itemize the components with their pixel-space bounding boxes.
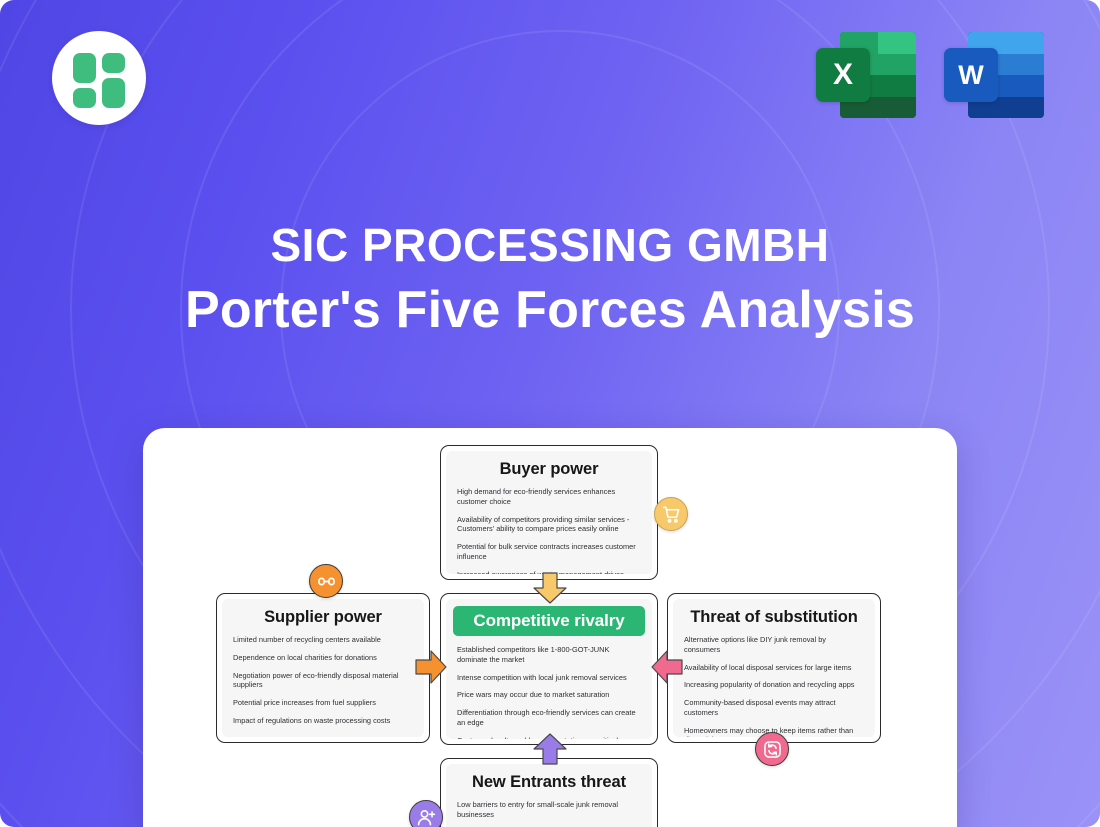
list-item: Alternative options like DIY junk remova…: [684, 635, 864, 655]
force-list-buyer: High demand for eco-friendly services en…: [457, 487, 641, 574]
force-title-buyer: Buyer power: [457, 460, 641, 479]
excel-icon-letter: X: [816, 48, 870, 102]
list-item: Potential price increases from fuel supp…: [233, 698, 413, 708]
export-icons: X W: [816, 32, 1044, 118]
arrow-up-icon: [532, 733, 568, 765]
list-item: Increasing popularity of donation and re…: [684, 680, 864, 690]
force-title-threat-of-substitution: Threat of substitution: [684, 608, 864, 627]
list-item: Established competitors like 1-800-GOT-J…: [457, 645, 641, 665]
force-box-competitive-rivalry[interactable]: Competitive rivalry Established competit…: [440, 593, 658, 745]
force-title-competitive-rivalry: Competitive rivalry: [453, 606, 645, 636]
word-icon[interactable]: W: [944, 32, 1044, 118]
force-list-supplier: Limited number of recycling centers avai…: [233, 635, 413, 726]
arrow-down-icon: [532, 572, 568, 604]
list-item: Differentiation through eco-friendly ser…: [457, 708, 641, 728]
force-list-competitive-rivalry: Established competitors like 1-800-GOT-J…: [457, 645, 641, 739]
grid-logo-icon: [73, 53, 125, 103]
force-box-new-entrants-threat[interactable]: New Entrants threat Low barriers to entr…: [440, 758, 658, 827]
refresh-sync-icon[interactable]: [755, 732, 789, 766]
excel-icon[interactable]: X: [816, 32, 916, 118]
company-name: SIC PROCESSING GMBH: [0, 218, 1100, 272]
force-list-new-entrants-threat: Low barriers to entry for small-scale ju…: [457, 800, 641, 827]
list-item: Availability of local disposal services …: [684, 663, 864, 673]
force-title-supplier: Supplier power: [233, 608, 413, 627]
porters-five-forces-diagram: Buyer power High demand for eco-friendly…: [143, 428, 957, 827]
list-item: Negotiation power of eco-friendly dispos…: [233, 671, 413, 691]
list-item: Price wars may occur due to market satur…: [457, 690, 641, 700]
link-chain-icon[interactable]: [309, 564, 343, 598]
list-item: Dependence on local charities for donati…: [233, 653, 413, 663]
analysis-subtitle: Porter's Five Forces Analysis: [0, 278, 1100, 343]
list-item: Community-based disposal events may attr…: [684, 698, 864, 718]
list-item: Low barriers to entry for small-scale ju…: [457, 800, 641, 820]
shopping-cart-icon[interactable]: [654, 497, 688, 531]
add-user-icon[interactable]: [409, 800, 443, 827]
slide-canvas: X W SIC PROCESSING GMBH Porter's Five Fo…: [0, 0, 1100, 827]
list-item: High demand for eco-friendly services en…: [457, 487, 641, 507]
force-list-threat-of-substitution: Alternative options like DIY junk remova…: [684, 635, 864, 737]
list-item: Intense competition with local junk remo…: [457, 673, 641, 683]
page-title: SIC PROCESSING GMBH Porter's Five Forces…: [0, 218, 1100, 343]
word-icon-letter: W: [944, 48, 998, 102]
arrow-left-icon: [651, 649, 683, 685]
diagram-card: Buyer power High demand for eco-friendly…: [143, 428, 957, 827]
list-item: Availability of competitors providing si…: [457, 515, 641, 535]
arrow-right-icon: [415, 649, 447, 685]
force-box-buyer[interactable]: Buyer power High demand for eco-friendly…: [440, 445, 658, 580]
force-box-supplier[interactable]: Supplier power Limited number of recycli…: [216, 593, 430, 743]
brand-logo[interactable]: [52, 31, 146, 125]
force-title-new-entrants-threat: New Entrants threat: [457, 773, 641, 792]
force-box-threat-of-substitution[interactable]: Threat of substitution Alternative optio…: [667, 593, 881, 743]
list-item: Limited number of recycling centers avai…: [233, 635, 413, 645]
list-item: Impact of regulations on waste processin…: [233, 716, 413, 726]
list-item: Potential for bulk service contracts inc…: [457, 542, 641, 562]
